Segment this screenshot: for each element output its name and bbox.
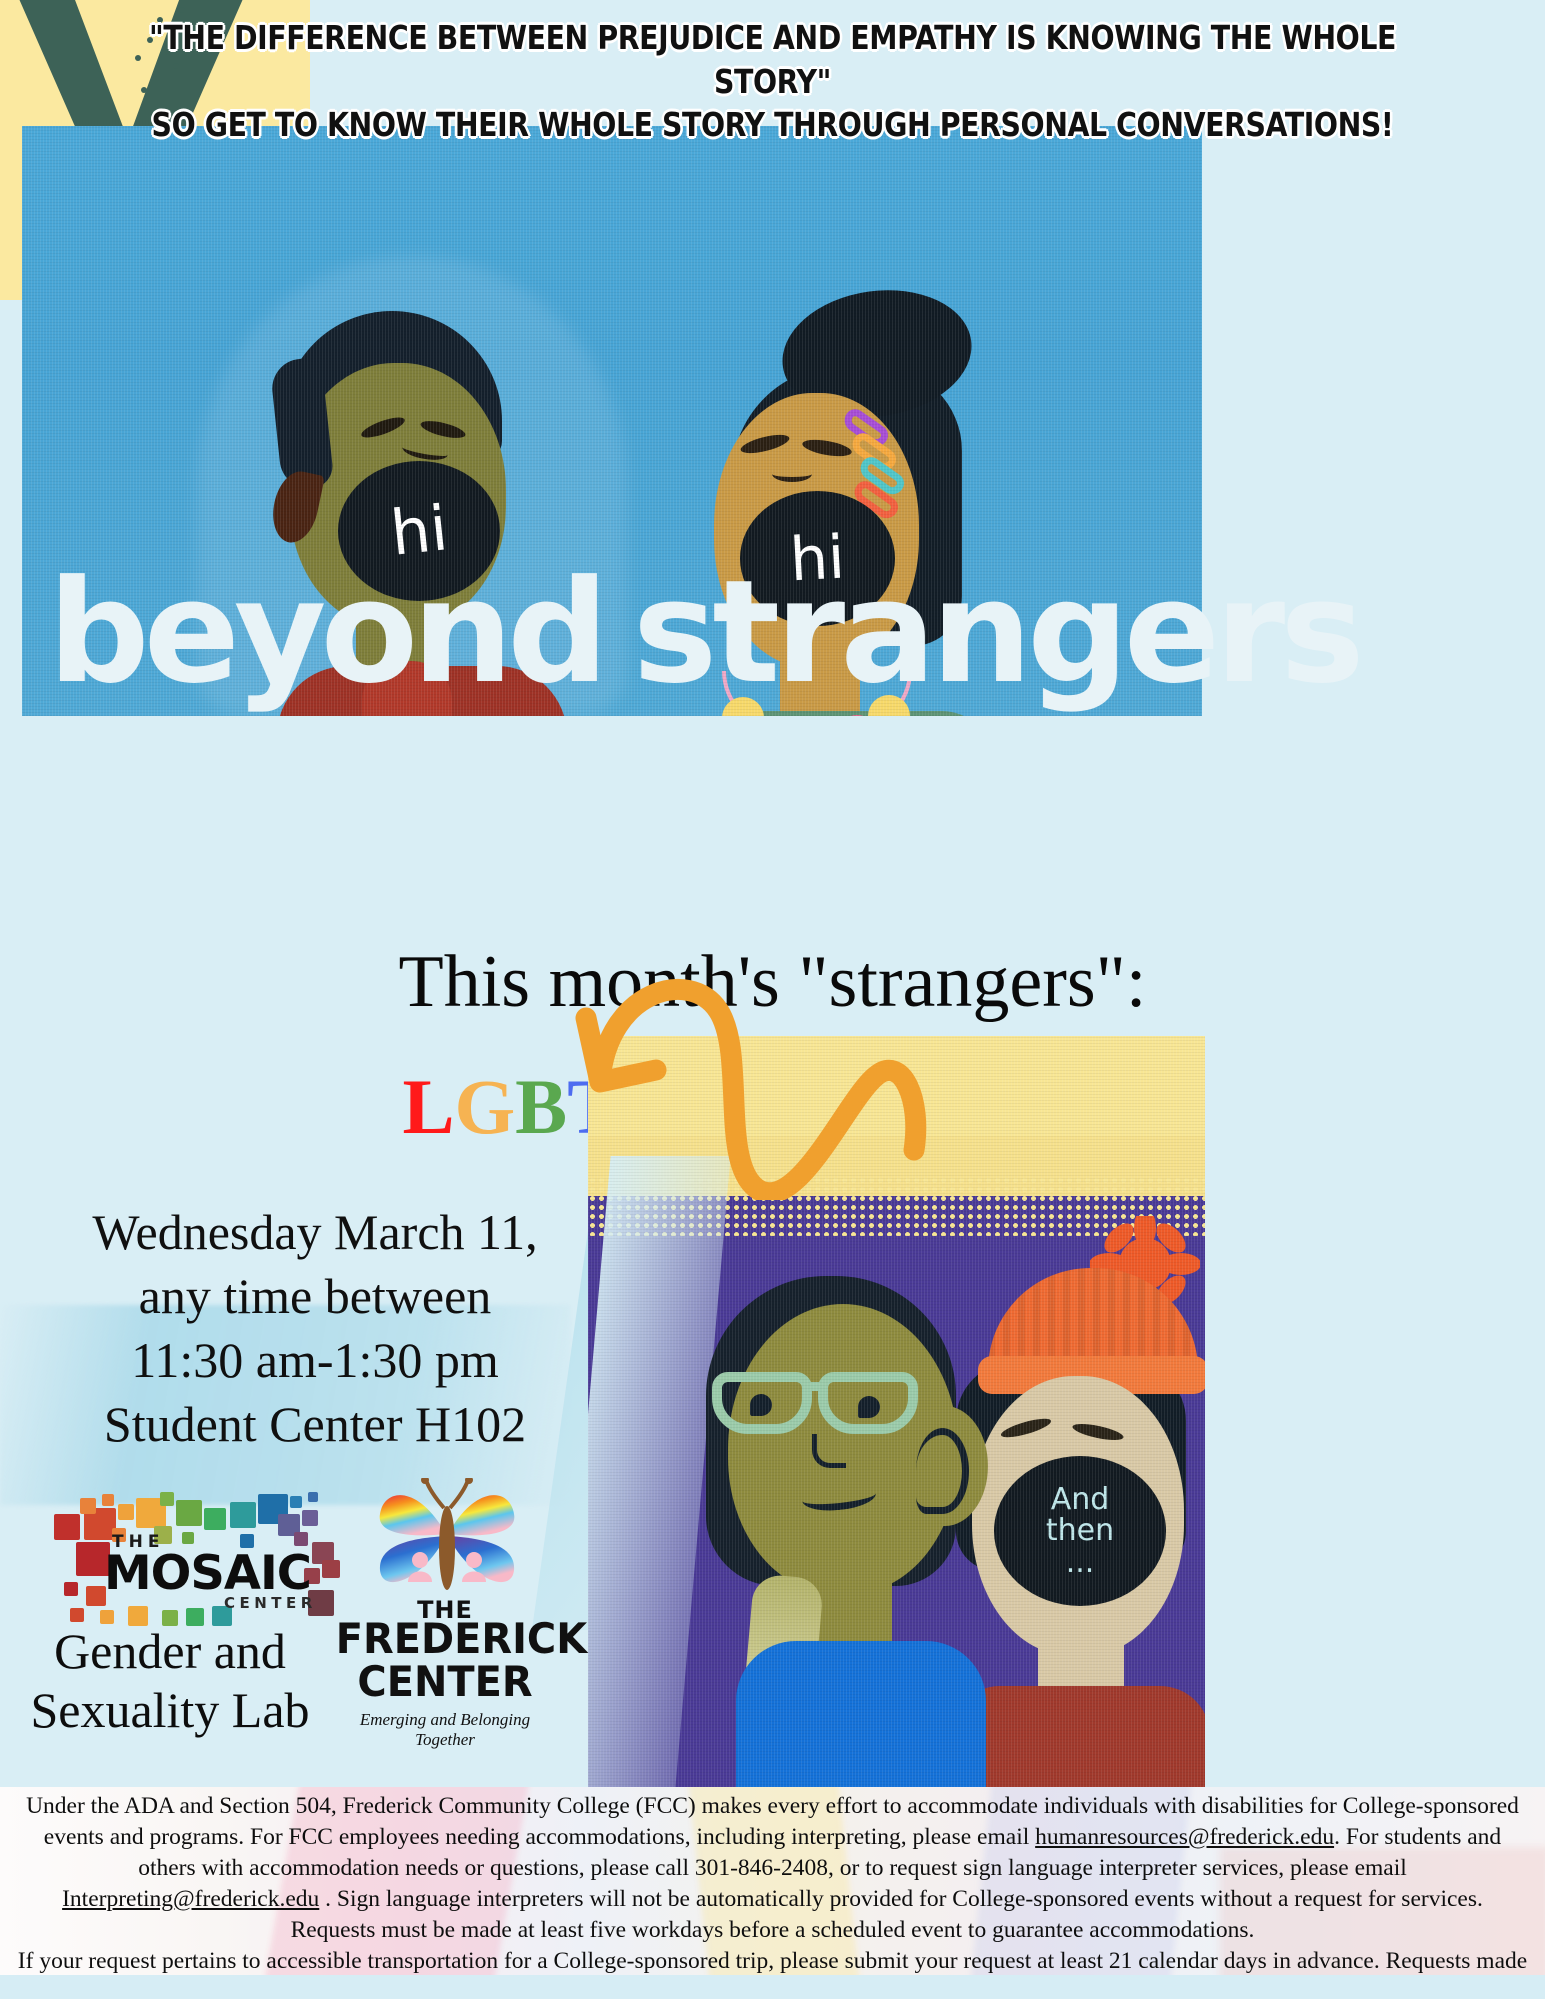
mosaic-center-logo: THE MOSAIC CENTER [50, 1490, 340, 1620]
lower-artwork: And then ... [588, 1036, 1205, 1848]
interpreting-email-link[interactable]: Interpreting@frederick.edu [62, 1886, 319, 1912]
mosaic-tile [230, 1502, 256, 1528]
frederick-logo-name-line-2: CENTER [357, 1657, 532, 1706]
figure-hat-speech-line-2: then [1046, 1515, 1114, 1547]
ada-paragraph-3: Requests must be made at least five work… [14, 1915, 1531, 1946]
mosaic-tile [302, 1510, 318, 1526]
mosaic-tile [176, 1500, 202, 1526]
mosaic-tile [102, 1494, 114, 1506]
wordmark-beyond: beyond [48, 550, 603, 715]
event-window: any time between [20, 1264, 610, 1328]
frederick-logo-name-line-1: FREDERICK [336, 1614, 587, 1663]
lgbtq-letter-g: G [454, 1063, 515, 1150]
beyond-strangers-wordmark: beyondstrangers [48, 568, 1188, 699]
mosaic-logo-center: CENTER [224, 1594, 317, 1612]
gender-sexuality-lab-label: Gender and Sexuality Lab [20, 1622, 320, 1740]
ada-p2-text-after: . Sign language interpreters will not be… [319, 1886, 1483, 1912]
event-details: Wednesday March 11, any time between 11:… [20, 1200, 610, 1456]
headline-line-1: "THE DIFFERENCE BETWEEN PREJUDICE AND EM… [108, 16, 1437, 103]
wordmark-strangers: strangers [633, 550, 1360, 715]
frederick-logo-tagline: Emerging and Belonging Together [330, 1710, 560, 1750]
figure-hat-speech-line-1: And [1051, 1484, 1110, 1516]
poster-root: "THE DIFFERENCE BETWEEN PREJUDICE AND EM… [0, 0, 1545, 1999]
frederick-center-logo: THE FREDERICK CENTER Emerging and Belong… [330, 1478, 560, 1718]
page-title: This month's "strangers": [0, 940, 1545, 1025]
mosaic-tile [80, 1498, 96, 1514]
mosaic-tile [64, 1582, 78, 1596]
event-time: 11:30 am-1:30 pm [20, 1328, 610, 1392]
frederick-logo-name: FREDERICK CENTER [336, 1618, 555, 1704]
mosaic-tile [160, 1492, 174, 1506]
eyeglasses-lens-right [818, 1372, 918, 1434]
mosaic-tile [70, 1608, 84, 1622]
eyeglasses-lens-left [712, 1372, 812, 1434]
mosaic-tile [204, 1508, 226, 1530]
lab-label-line-2: Sexuality Lab [20, 1681, 320, 1740]
ada-paragraph-1: Under the ADA and Section 504, Frederick… [14, 1791, 1531, 1884]
headline-line-2: SO GET TO KNOW THEIR WHOLE STORY THROUGH… [108, 103, 1437, 147]
lgbtq-letter-b: B [515, 1063, 567, 1150]
ada-accessibility-notice: Under the ADA and Section 504, Frederick… [14, 1791, 1531, 1999]
mosaic-tile [294, 1532, 308, 1546]
figure-glasses-shirt [736, 1641, 986, 1791]
figure-right-nose [772, 466, 812, 482]
figure-hat-speech-mouth: And then ... [994, 1456, 1166, 1606]
figure-hat-speech-line-3: ... [1066, 1547, 1095, 1579]
painted-figure-glasses [706, 1276, 1006, 1696]
mosaic-tile [118, 1504, 134, 1520]
eyeglasses-icon [712, 1372, 952, 1440]
figure-glasses-nose [812, 1434, 846, 1468]
event-date: Wednesday March 11, [20, 1200, 610, 1264]
mosaic-tile [182, 1532, 194, 1544]
lgbtq-letter-l: L [402, 1063, 454, 1150]
event-location: Student Center H102 [20, 1392, 610, 1456]
bottom-strip [0, 1975, 1545, 1999]
ada-paragraph-2: Interpreting@frederick.edu . Sign langua… [14, 1884, 1531, 1915]
hr-email-link[interactable]: humanresources@frederick.edu [1035, 1824, 1334, 1850]
mosaic-logo-name: MOSAIC [104, 1546, 311, 1601]
lab-label-line-1: Gender and [20, 1622, 320, 1681]
poster-headline: "THE DIFFERENCE BETWEEN PREJUDICE AND EM… [108, 16, 1437, 147]
rainbow-butterfly-icon [358, 1478, 533, 1598]
mosaic-tile [290, 1496, 302, 1508]
mosaic-tile [54, 1514, 80, 1540]
mosaic-tile [308, 1492, 318, 1502]
